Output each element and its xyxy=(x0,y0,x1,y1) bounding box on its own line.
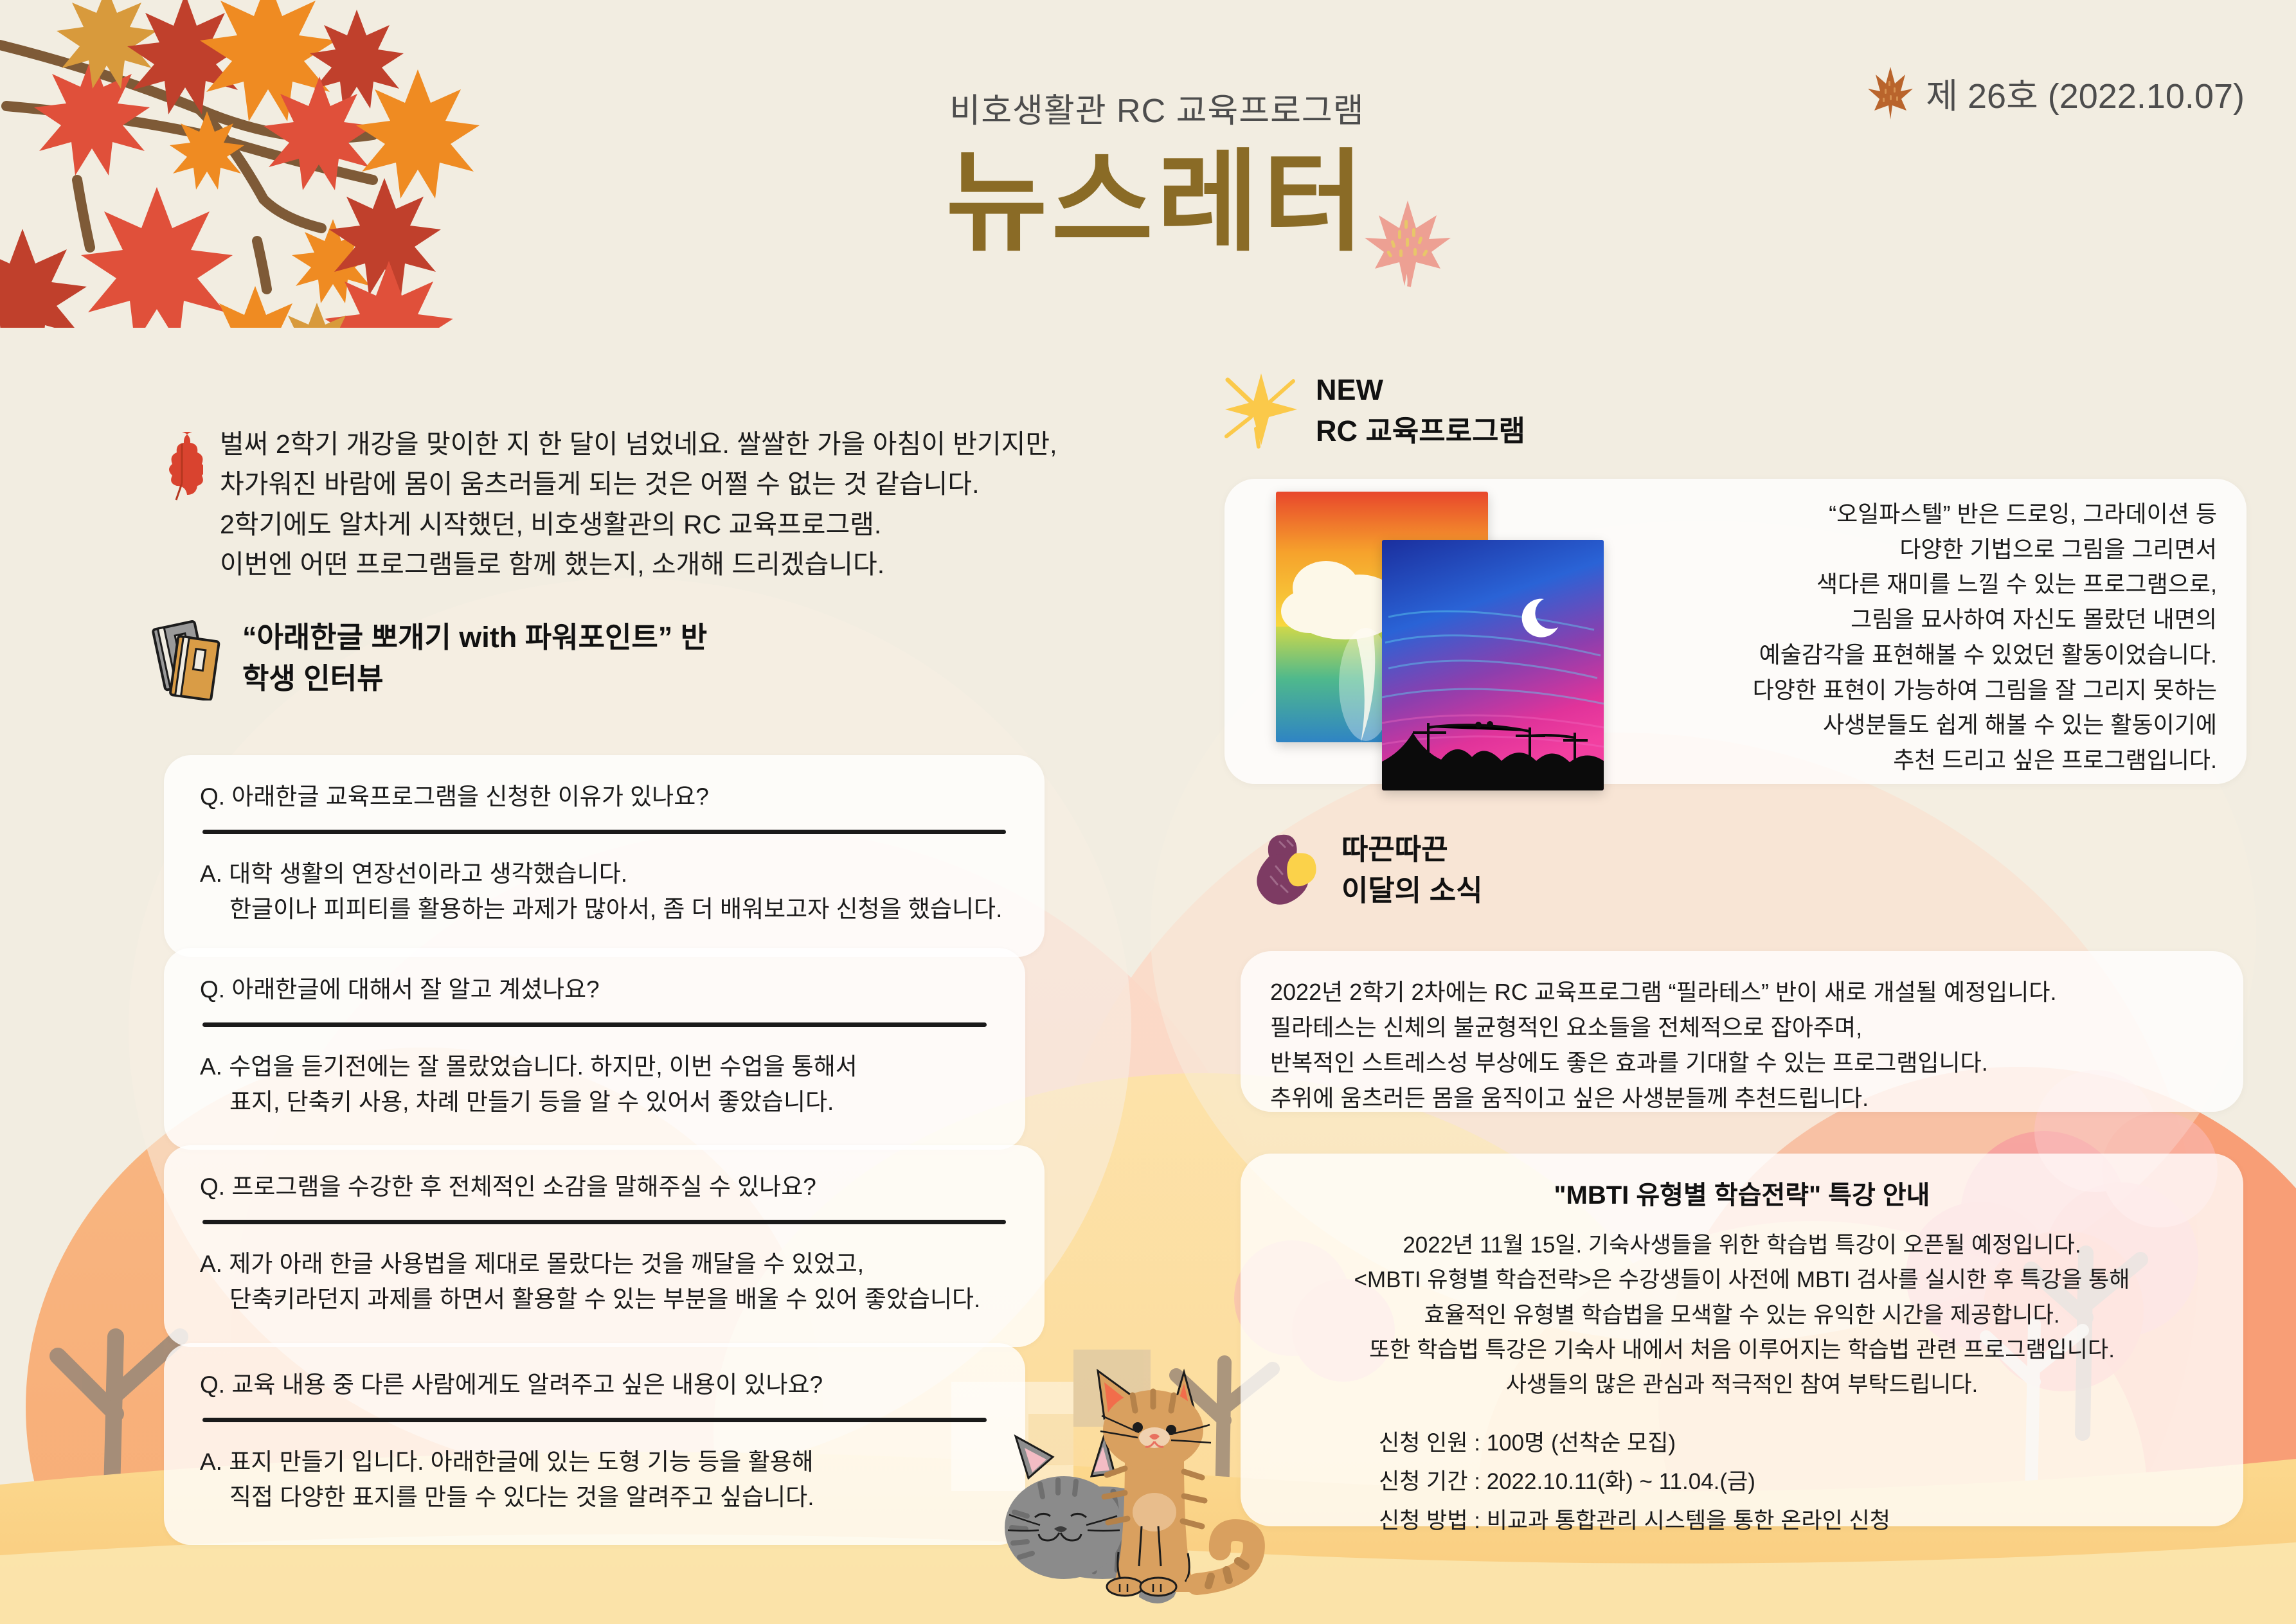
issue-text: 제 26호 (2022.10.07) xyxy=(1926,67,2245,118)
new-program-heading-line2: RC 교육프로그램 xyxy=(1316,411,1525,452)
divider xyxy=(202,1418,987,1422)
mbti-title: "MBTI 유형별 학습전략" 특강 안내 xyxy=(1266,1174,2218,1211)
interview-qa-card: Q. 프로그램을 수강한 후 전체적인 소감을 말해주실 수 있나요? A. 제… xyxy=(164,1145,1045,1347)
answer-line-1: A. 대학 생활의 연장선이라고 생각했습니다. xyxy=(200,861,627,887)
mbti-lecture-card: "MBTI 유형별 학습전략" 특강 안내 2022년 11월 15일. 기숙사… xyxy=(1241,1154,2243,1526)
interview-answer: A. 대학 생활의 연장선이라고 생각했습니다. 한글이나 피피티를 활용하는 … xyxy=(200,856,1009,927)
interview-heading: “아래한글 뽀개기 with 파워포인트” 반 학생 인터뷰 xyxy=(242,617,707,699)
interview-qa-card: Q. 아래한글에 대해서 잘 알고 계셨나요? A. 수업을 듣기전에는 잘 몰… xyxy=(164,948,1025,1150)
sweet-potato-icon xyxy=(1250,829,1327,906)
answer-line-2: 한글이나 피피티를 활용하는 과제가 많아서, 좀 더 배워보고자 신청을 했습… xyxy=(200,891,1009,927)
new-program-line: 사생분들도 쉽게 해볼 수 있는 활동이기에 xyxy=(1651,708,2217,743)
intro-line: 2학기에도 알차게 시작했던, 비호생활관의 RC 교육프로그램. xyxy=(220,504,1057,544)
new-program-line: 예술감각을 표현해볼 수 있었던 활동이었습니다. xyxy=(1651,638,2217,673)
new-program-section-header: NEW RC 교육프로그램 xyxy=(1221,370,1525,452)
monthly-news-section-header: 따끈따끈 이달의 소식 xyxy=(1250,829,1483,911)
interview-answer: A. 제가 아래 한글 사용법을 제대로 몰랐다는 것을 깨달을 수 있었고, … xyxy=(200,1246,1009,1317)
monthly-news-heading-line1: 따끈따끈 xyxy=(1341,829,1483,870)
interview-answer: A. 수업을 듣기전에는 잘 몰랐었습니다. 하지만, 이번 수업을 통해서 표… xyxy=(200,1049,989,1120)
issue-badge: 제 26호 (2022.10.07) xyxy=(1865,64,2245,121)
mbti-application-details: 신청 인원 : 100명 (선착순 모집) 신청 기간 : 2022.10.11… xyxy=(1266,1424,2218,1540)
monthly-news-heading-line2: 이달의 소식 xyxy=(1341,870,1483,911)
oak-leaf-icon xyxy=(161,431,203,501)
monthly-news-card: 2022년 2학기 2차에는 RC 교육프로그램 “필라테스” 반이 새로 개설… xyxy=(1241,951,2243,1112)
mbti-body-line: <MBTI 유형별 학습전략>은 수강생들이 사전에 MBTI 검사를 실시한 … xyxy=(1266,1263,2218,1298)
mbti-detail-period: 신청 기간 : 2022.10.11(화) ~ 11.04.(금) xyxy=(1379,1463,2218,1501)
interview-question: Q. 교육 내용 중 다른 사람에게도 알려주고 싶은 내용이 있나요? xyxy=(200,1369,989,1401)
books-icon xyxy=(151,617,228,700)
monthly-news-line: 2022년 2학기 2차에는 RC 교육프로그램 “필라테스” 반이 새로 개설… xyxy=(1270,974,2214,1010)
interview-heading-line1: “아래한글 뽀개기 with 파워포인트” 반 xyxy=(242,617,707,658)
intro-text: 벌써 2학기 개강을 맞이한 지 한 달이 넘었네요. 쌀쌀한 가을 아침이 반… xyxy=(220,424,1057,584)
maple-branch-icon xyxy=(0,0,489,328)
newsletter-page: 비호생활관 RC 교육프로그램 뉴스레터 xyxy=(0,0,2296,1624)
answer-line-1: A. 수업을 듣기전에는 잘 몰랐었습니다. 하지만, 이번 수업을 통해서 xyxy=(200,1053,857,1080)
new-program-heading: NEW RC 교육프로그램 xyxy=(1316,370,1525,452)
intro-line: 벌써 2학기 개강을 맞이한 지 한 달이 넘었네요. 쌀쌀한 가을 아침이 반… xyxy=(220,424,1057,464)
divider xyxy=(202,830,1006,834)
intro-paragraph: 벌써 2학기 개강을 맞이한 지 한 달이 넘었네요. 쌀쌀한 가을 아침이 반… xyxy=(161,424,1093,584)
new-program-line: “오일파스텔” 반은 드로잉, 그라데이션 등 xyxy=(1651,497,2217,532)
answer-line-1: A. 표지 만들기 입니다. 아래한글에 있는 도형 기능 등을 활용해 xyxy=(200,1449,814,1475)
interview-question: Q. 프로그램을 수강한 후 전체적인 소감을 말해주실 수 있나요? xyxy=(200,1171,1009,1203)
intro-line: 차가워진 바람에 몸이 움츠러들게 되는 것은 어쩔 수 없는 것 같습니다. xyxy=(220,464,1057,504)
intro-line: 이번엔 어떤 프로그램들로 함께 했는지, 소개해 드리겠습니다. xyxy=(220,544,1057,584)
two-cats-illustration xyxy=(932,1340,1292,1610)
new-program-line: 다양한 표현이 가능하여 그림을 잘 그리지 못하는 xyxy=(1651,673,2217,708)
answer-line-1: A. 제가 아래 한글 사용법을 제대로 몰랐다는 것을 깨달을 수 있었고, xyxy=(200,1251,864,1277)
interview-section-header: “아래한글 뽀개기 with 파워포인트” 반 학생 인터뷰 xyxy=(151,617,707,700)
new-program-line: 그림을 묘사하여 자신도 몰랐던 내면의 xyxy=(1651,602,2217,638)
answer-line-2: 단축키라던지 과제를 하면서 활용할 수 있는 부분을 배울 수 있어 좋았습니… xyxy=(200,1281,1009,1317)
mbti-body-line: 사생들의 많은 관심과 적극적인 참여 부탁드립니다. xyxy=(1266,1368,2218,1402)
new-program-line: 다양한 기법으로 그림을 그리면서 xyxy=(1651,532,2217,567)
maple-leaf-icon xyxy=(1865,64,1915,121)
monthly-news-heading: 따끈따끈 이달의 소식 xyxy=(1341,829,1483,911)
page-header: 비호생활관 RC 교육프로그램 뉴스레터 xyxy=(0,0,2296,334)
mbti-body-line: 2022년 11월 15일. 기숙사생들을 위한 학습법 특강이 오픈될 예정입… xyxy=(1266,1228,2218,1263)
interview-question: Q. 아래한글 교육프로그램을 신청한 이유가 있나요? xyxy=(200,781,1009,813)
monthly-news-line: 필라테스는 신체의 불균형적인 요소들을 전체적으로 잡아주며, xyxy=(1270,1010,2214,1045)
new-program-line: 추천 드리고 싶은 프로그램입니다. xyxy=(1651,743,2217,778)
monthly-news-text: 2022년 2학기 2차에는 RC 교육프로그램 “필라테스” 반이 새로 개설… xyxy=(1270,974,2214,1116)
new-program-text: “오일파스텔” 반은 드로잉, 그라데이션 등 다양한 기법으로 그림을 그리면… xyxy=(1651,497,2217,778)
oil-pastel-night-sky-artwork xyxy=(1382,540,1604,790)
mbti-detail-capacity: 신청 인원 : 100명 (선착순 모집) xyxy=(1379,1424,2218,1463)
divider xyxy=(202,1220,1006,1224)
new-program-line: 색다른 재미를 느낄 수 있는 프로그램으로, xyxy=(1651,567,2217,602)
new-program-heading-line1: NEW xyxy=(1316,370,1525,411)
monthly-news-line: 반복적인 스트레스성 부상에도 좋은 효과를 기대할 수 있는 프로그램입니다. xyxy=(1270,1045,2214,1080)
mbti-detail-method: 신청 방법 : 비교과 통합관리 시스템을 통한 온라인 신청 xyxy=(1379,1502,2218,1540)
answer-line-2: 표지, 단축키 사용, 차례 만들기 등을 알 수 있어서 좋았습니다. xyxy=(200,1084,989,1120)
maple-leaf-icon xyxy=(1359,193,1456,289)
sparkle-star-icon xyxy=(1221,370,1302,450)
mbti-body-line: 효율적인 유형별 학습법을 모색할 수 있는 유익한 시간을 제공합니다. xyxy=(1266,1298,2218,1333)
interview-qa-card: Q. 교육 내용 중 다른 사람에게도 알려주고 싶은 내용이 있나요? A. … xyxy=(164,1343,1025,1545)
interview-answer: A. 표지 만들기 입니다. 아래한글에 있는 도형 기능 등을 활용해 직접 … xyxy=(200,1444,989,1515)
interview-question: Q. 아래한글에 대해서 잘 알고 계셨나요? xyxy=(200,974,989,1006)
divider xyxy=(202,1022,987,1027)
new-program-card: “오일파스텔” 반은 드로잉, 그라데이션 등 다양한 기법으로 그림을 그리면… xyxy=(1224,479,2247,784)
page-kicker: 비호생활관 RC 교육프로그램 xyxy=(836,84,1478,132)
mbti-body-line: 또한 학습법 특강은 기숙사 내에서 처음 이루어지는 학습법 관련 프로그램입… xyxy=(1266,1333,2218,1368)
artwork-gallery xyxy=(1263,469,1674,778)
interview-qa-card: Q. 아래한글 교육프로그램을 신청한 이유가 있나요? A. 대학 생활의 연… xyxy=(164,755,1045,957)
mbti-body: 2022년 11월 15일. 기숙사생들을 위한 학습법 특강이 오픈될 예정입… xyxy=(1266,1228,2218,1402)
interview-heading-line2: 학생 인터뷰 xyxy=(242,658,707,699)
orange-tabby-cat-icon xyxy=(1098,1371,1254,1596)
monthly-news-line: 추위에 움츠러든 몸을 움직이고 싶은 사생분들께 추천드립니다. xyxy=(1270,1080,2214,1116)
answer-line-2: 직접 다양한 표지를 만들 수 있다는 것을 알려주고 싶습니다. xyxy=(200,1479,989,1515)
